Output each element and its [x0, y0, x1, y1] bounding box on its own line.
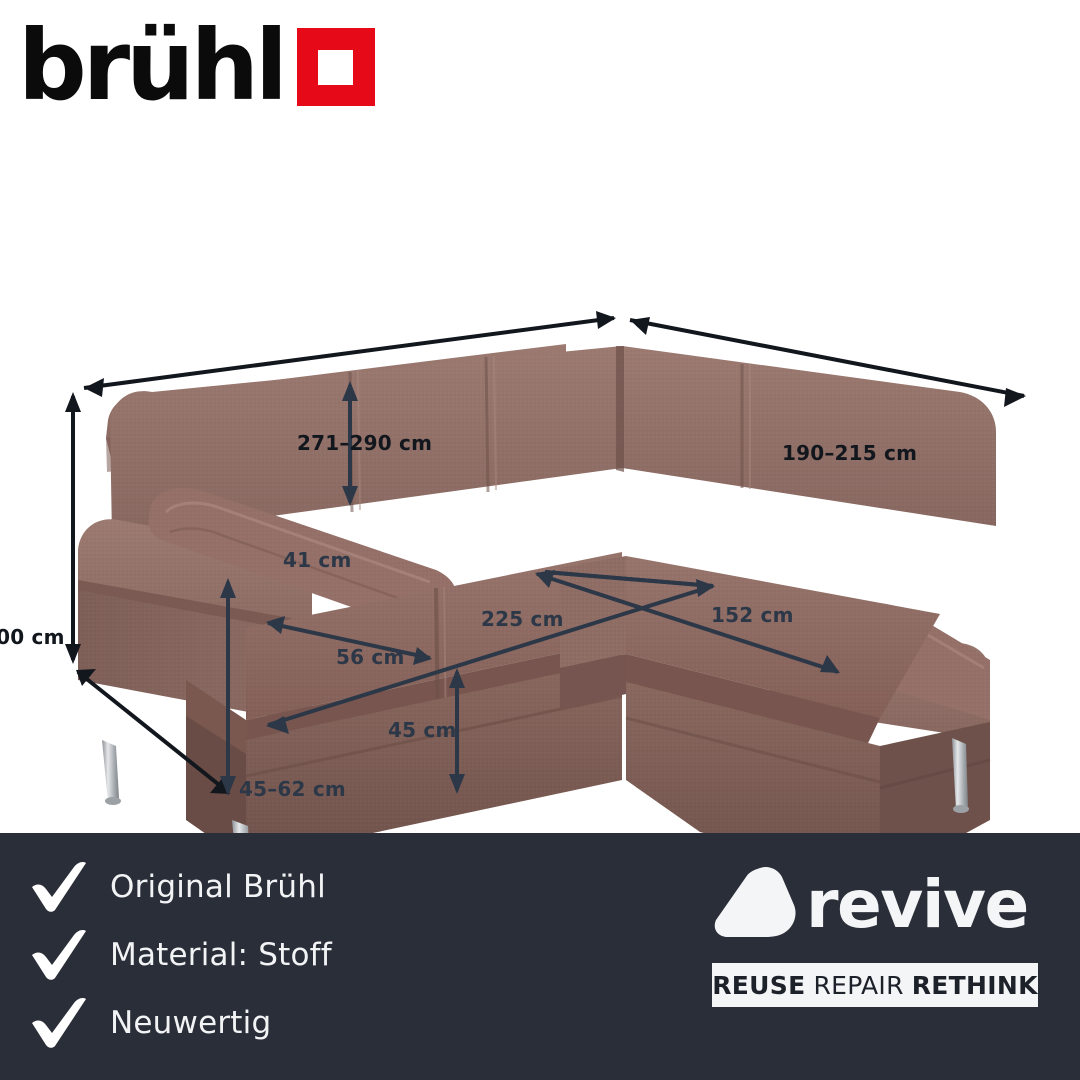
page-root: brühl [0, 0, 1080, 1080]
dimension-label-seat-width-left: 225 cm [481, 607, 564, 631]
info-banner: Original Brühl Material: Stoff Neuwertig [0, 833, 1080, 1080]
tagline-reuse: REUSE [712, 973, 805, 998]
feature-item: Neuwertig [28, 991, 332, 1055]
dimension-label-back-height: 41 cm [283, 548, 352, 572]
revive-logo-top: revive [712, 861, 1052, 949]
brand-square-inner-icon [318, 50, 353, 85]
dimension-label-width-left: 271–290 cm [297, 431, 432, 455]
dimension-label-width-right: 190–215 cm [782, 441, 917, 465]
dimension-label-seat-depth: 56 cm [336, 645, 405, 669]
dimension-label-arm-height: 45–62 cm [239, 777, 346, 801]
product-image-stage: 271–290 cm 190–215 cm 100 cm 45 cm 41 cm… [0, 120, 1080, 833]
check-icon [28, 929, 90, 981]
feature-label: Material: Stoff [110, 937, 332, 973]
check-icon [28, 997, 90, 1049]
feature-label: Original Brühl [110, 869, 326, 905]
dimension-label-seat-height: 45 cm [388, 718, 457, 742]
sofa-right-section [560, 346, 996, 833]
feature-list: Original Brühl Material: Stoff Neuwertig [28, 855, 332, 1055]
tagline-repair: REPAIR [813, 973, 903, 998]
tagline-rethink: RETHINK [912, 973, 1038, 998]
sofa-leg-left-back [102, 740, 121, 805]
brand-square-icon [297, 28, 375, 106]
feature-item: Material: Stoff [28, 923, 332, 987]
revive-wordmark: revive [806, 872, 1028, 938]
dimension-label-total-height: 100 cm [0, 625, 65, 649]
revive-leaf-icon [712, 865, 798, 945]
feature-item: Original Brühl [28, 855, 332, 919]
brand-logo: brühl [18, 14, 375, 118]
brand-wordmark: brühl [18, 24, 284, 107]
dimension-label-seat-width-right: 152 cm [711, 603, 794, 627]
revive-logo: revive REUSE REPAIR RETHINK [712, 861, 1052, 1007]
check-icon [28, 861, 90, 913]
feature-label: Neuwertig [110, 1005, 271, 1041]
sofa-illustration [0, 120, 1080, 833]
revive-tagline: REUSE REPAIR RETHINK [712, 963, 1038, 1007]
